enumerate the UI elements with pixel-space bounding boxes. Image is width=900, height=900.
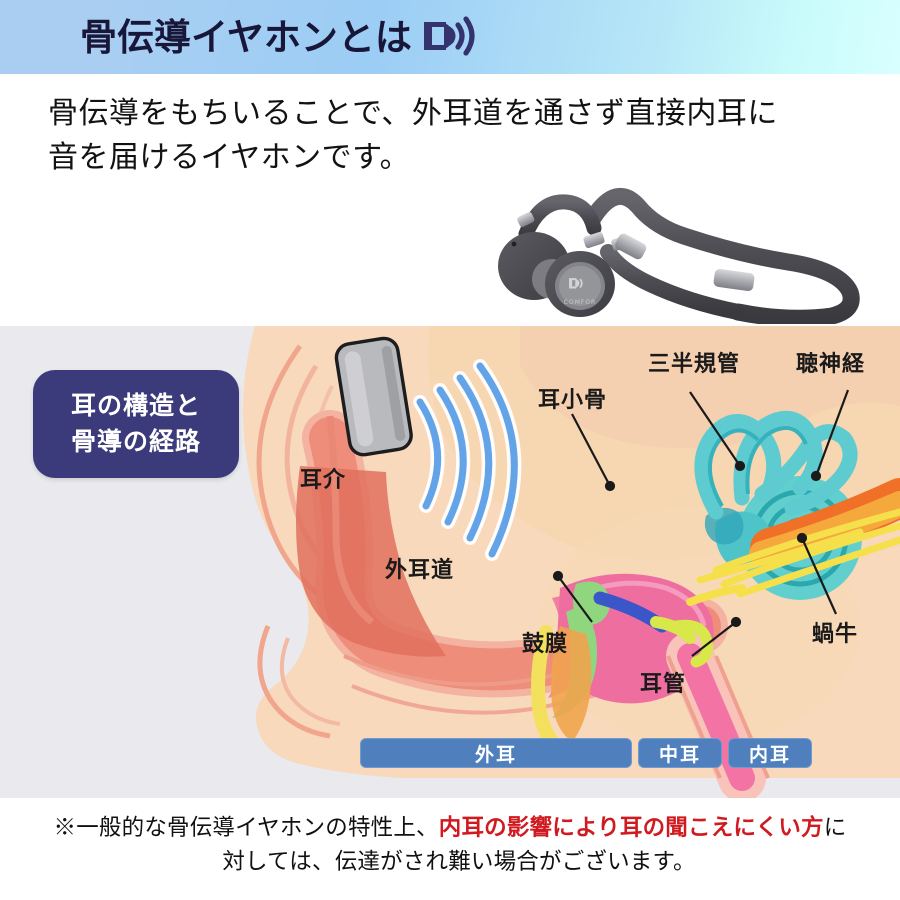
legend-middle-ear: 中耳 bbox=[638, 738, 722, 768]
label-ear-canal: 外耳道 bbox=[385, 552, 454, 584]
diagram-badge: 耳の構造と 骨導の経路 bbox=[33, 370, 239, 478]
legend-outer-ear: 外耳 bbox=[360, 738, 632, 768]
intro-line-1: 骨伝導をもちいることで、外耳道を通さず直接内耳に bbox=[48, 92, 848, 136]
label-ossicles: 耳小骨 bbox=[538, 382, 607, 414]
svg-text:COMFOR: COMFOR bbox=[564, 299, 596, 306]
footnote-part-2: に bbox=[824, 815, 847, 841]
footnote: ※一般的な骨伝導イヤホンの特性上、内耳の影響により耳の聞こえにくい方に 対しては… bbox=[0, 812, 900, 880]
page-title: 骨伝導イヤホンとは bbox=[80, 19, 412, 56]
ear-region-legend: 外耳 中耳 内耳 bbox=[360, 738, 818, 768]
footnote-part-1: ※一般的な骨伝導イヤホンの特性上、 bbox=[54, 815, 439, 841]
product-info-page: 骨伝導イヤホンとは 骨伝導をもちいることで、外耳道を通さず直接内耳に 音を届ける… bbox=[0, 0, 900, 900]
intro-text: 骨伝導をもちいることで、外耳道を通さず直接内耳に 音を届けるイヤホンです。 bbox=[48, 92, 848, 180]
diagram-badge-line-1: 耳の構造と bbox=[71, 388, 201, 424]
sound-wave-icon bbox=[420, 13, 476, 64]
label-auricle: 耳介 bbox=[300, 462, 346, 494]
diagram-badge-line-2: 骨導の経路 bbox=[71, 424, 201, 460]
bone-conduction-earphone-photo: COMFOR bbox=[488, 176, 884, 324]
footnote-highlight: 内耳の影響により耳の聞こえにくい方 bbox=[439, 815, 824, 841]
intro-line-2: 音を届けるイヤホンです。 bbox=[48, 136, 848, 180]
label-cochlea: 蝸牛 bbox=[812, 616, 858, 648]
footnote-line-2: 対しては、伝達がされ難い場合がございます。 bbox=[0, 846, 900, 880]
label-auditory-nerve: 聴神経 bbox=[796, 346, 865, 378]
footnote-line-1: ※一般的な骨伝導イヤホンの特性上、内耳の影響により耳の聞こえにくい方に bbox=[0, 812, 900, 846]
ear-anatomy-diagram: 耳の構造と 骨導の経路 耳介 外耳道 耳小骨 三半規管 聴神経 鼓膜 耳管 蝸牛… bbox=[0, 326, 900, 798]
page-header: 骨伝導イヤホンとは bbox=[0, 0, 900, 74]
header-content: 骨伝導イヤホンとは bbox=[80, 0, 476, 74]
label-eustachian-tube: 耳管 bbox=[640, 666, 686, 698]
label-semicircular-canals: 三半規管 bbox=[648, 346, 740, 378]
label-eardrum: 鼓膜 bbox=[522, 626, 568, 658]
legend-inner-ear: 内耳 bbox=[728, 738, 812, 768]
